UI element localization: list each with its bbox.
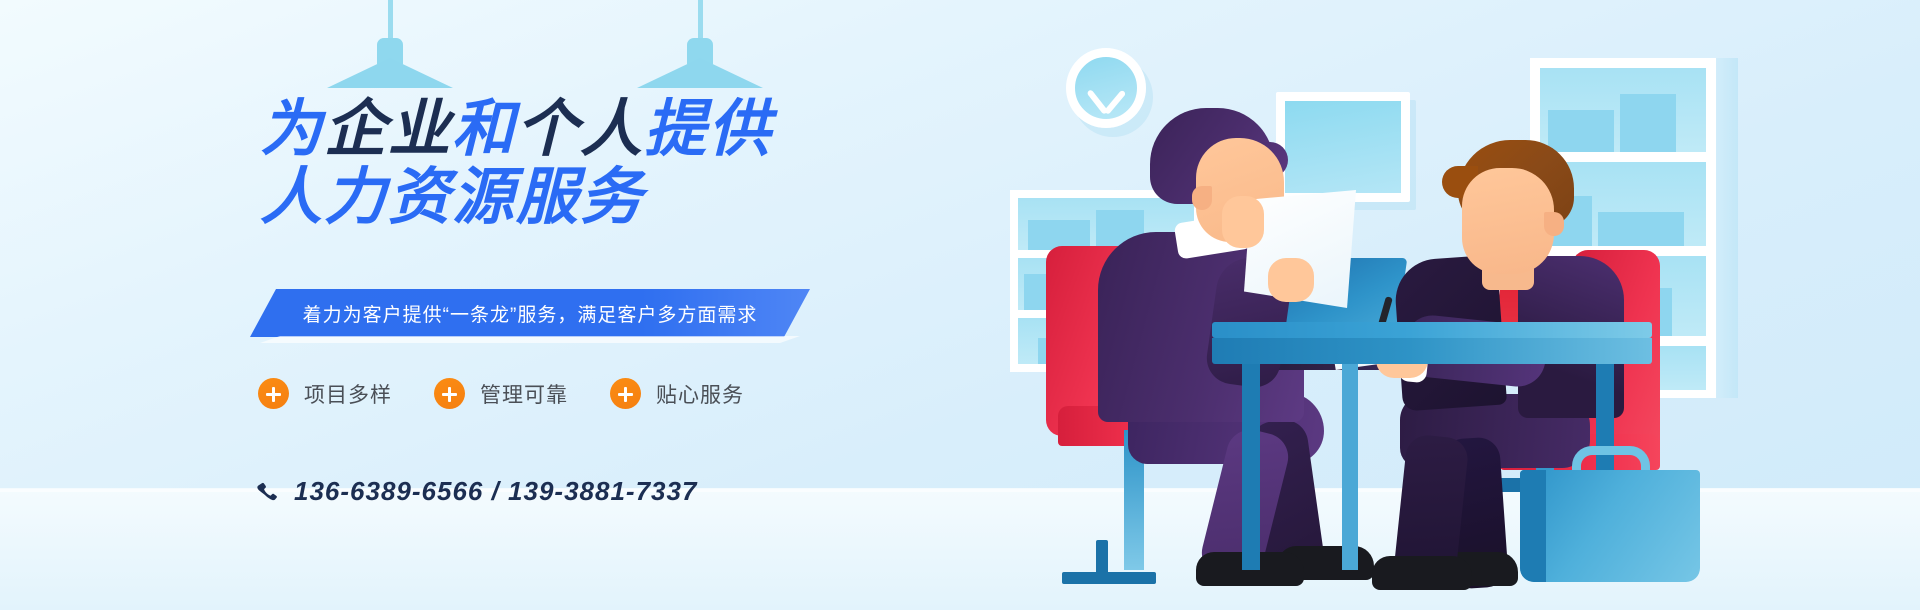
desk-leg-left xyxy=(1242,364,1260,570)
feature-label-1: 项目多样 xyxy=(304,379,392,409)
phone-icon xyxy=(256,481,278,503)
feature-item-2[interactable]: 管理可靠 xyxy=(434,378,568,409)
subtitle-banner: 着力为客户提供“一条龙”服务，满足客户多方面需求 xyxy=(250,289,810,337)
wall-clock-icon xyxy=(1066,48,1146,128)
headline-line-2: 人力资源服务 xyxy=(260,164,960,232)
headline-line-1: 为企业和个人提供 xyxy=(260,96,960,164)
left-person-hand-lower xyxy=(1268,258,1314,302)
text-content: 为企业和个人提供 人力资源服务 着力为客户提供“一条龙”服务，满足客户多方面需求… xyxy=(0,0,980,610)
shelf-side-panel xyxy=(1716,58,1738,398)
right-person-ear xyxy=(1544,212,1564,236)
shelf-cell xyxy=(1540,68,1706,152)
desk-edge xyxy=(1212,338,1652,364)
right-person-shoe-front xyxy=(1372,556,1472,590)
feature-label-3: 贴心服务 xyxy=(656,379,744,409)
headline-seg-5: 提供 xyxy=(644,95,772,164)
feature-item-3[interactable]: 贴心服务 xyxy=(610,378,744,409)
headline-seg-1: 为 xyxy=(260,95,324,164)
headline: 为企业和个人提供 人力资源服务 xyxy=(260,96,960,232)
framed-picture xyxy=(1276,92,1410,202)
right-person-head xyxy=(1462,168,1554,274)
plus-icon xyxy=(610,378,641,409)
subtitle-banner-shadow xyxy=(260,336,800,343)
briefcase-shadow-panel xyxy=(1520,470,1546,582)
briefcase-icon xyxy=(1520,470,1700,582)
desk-leg-mid xyxy=(1342,364,1358,570)
headline-seg-2: 企业 xyxy=(324,95,452,164)
feature-label-2: 管理可靠 xyxy=(480,379,568,409)
left-person-hand-upper xyxy=(1222,196,1264,248)
feature-list: 项目多样 管理可靠 贴心服务 xyxy=(258,378,744,409)
chair-foot-left xyxy=(1062,572,1156,584)
phone-number: 136-6389-6566 / 139-3881-7337 xyxy=(294,476,697,507)
desk-surface xyxy=(1212,322,1652,338)
clock-hand-minute xyxy=(1104,90,1127,115)
subtitle-text: 着力为客户提供“一条龙”服务，满足客户多方面需求 xyxy=(250,289,810,337)
contact-phone[interactable]: 136-6389-6566 / 139-3881-7337 xyxy=(256,476,697,507)
left-person-ear xyxy=(1192,186,1212,210)
plus-icon xyxy=(258,378,289,409)
feature-item-1[interactable]: 项目多样 xyxy=(258,378,392,409)
headline-seg-3: 和 xyxy=(452,95,516,164)
plus-icon xyxy=(434,378,465,409)
hero-banner: 为企业和个人提供 人力资源服务 着力为客户提供“一条龙”服务，满足客户多方面需求… xyxy=(0,0,1920,610)
headline-seg-4: 个人 xyxy=(516,95,644,164)
